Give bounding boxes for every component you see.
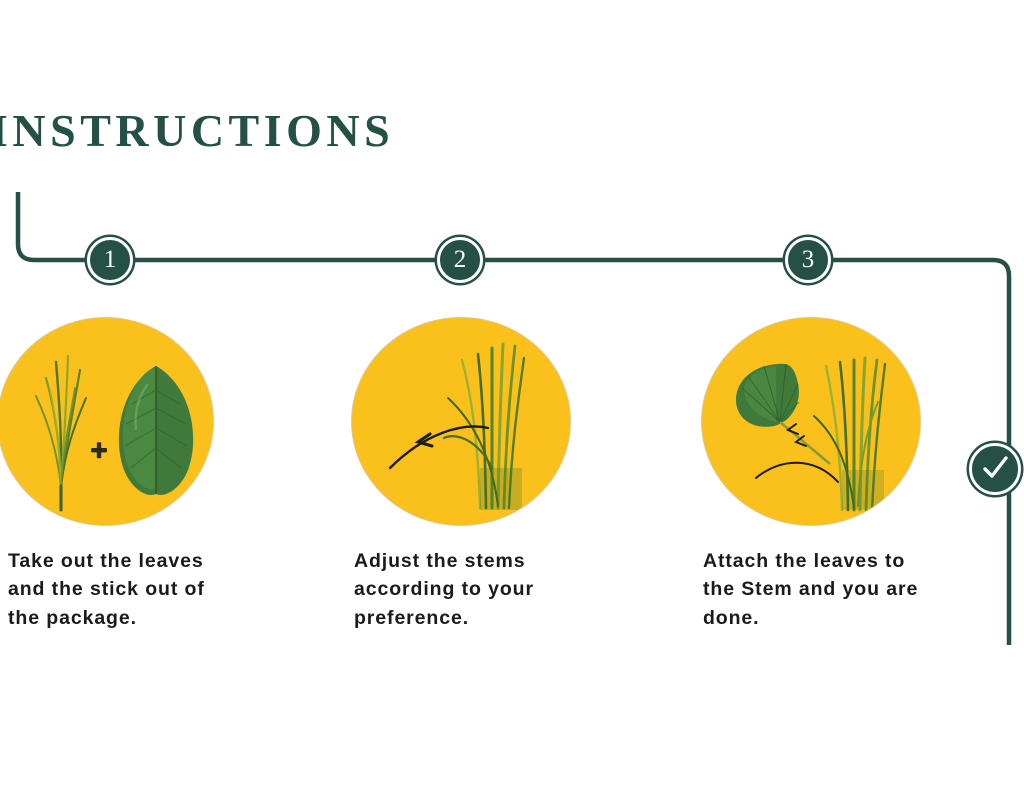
step-column-2: Adjust the stems according to your prefe… [345,318,585,632]
step-1-illustration [0,318,213,525]
step-2-caption: Adjust the stems according to your prefe… [354,547,589,632]
step-marker-2-number: 2 [454,247,467,272]
step-marker-3-number: 3 [802,247,815,272]
step-marker-1-number: 1 [104,247,117,272]
completion-check-marker[interactable] [969,443,1021,495]
page-title: INSTRUCTIONS [0,108,394,154]
step-marker-3[interactable]: 3 [785,237,831,283]
step-marker-2[interactable]: 2 [437,237,483,283]
step-2-illustration [352,318,570,525]
instructions-infographic: INSTRUCTIONS 1 2 3 [0,0,1024,796]
step-column-3: Attach the leaves to the Stem and you ar… [694,318,934,632]
step-1-caption: Take out the leaves and the stick out of… [8,547,213,632]
check-icon [978,452,1012,486]
step-3-caption: Attach the leaves to the Stem and you ar… [703,547,938,632]
step-3-illustration [702,318,920,525]
step-marker-1[interactable]: 1 [87,237,133,283]
step-column-1: Take out the leaves and the stick out of… [0,318,232,632]
